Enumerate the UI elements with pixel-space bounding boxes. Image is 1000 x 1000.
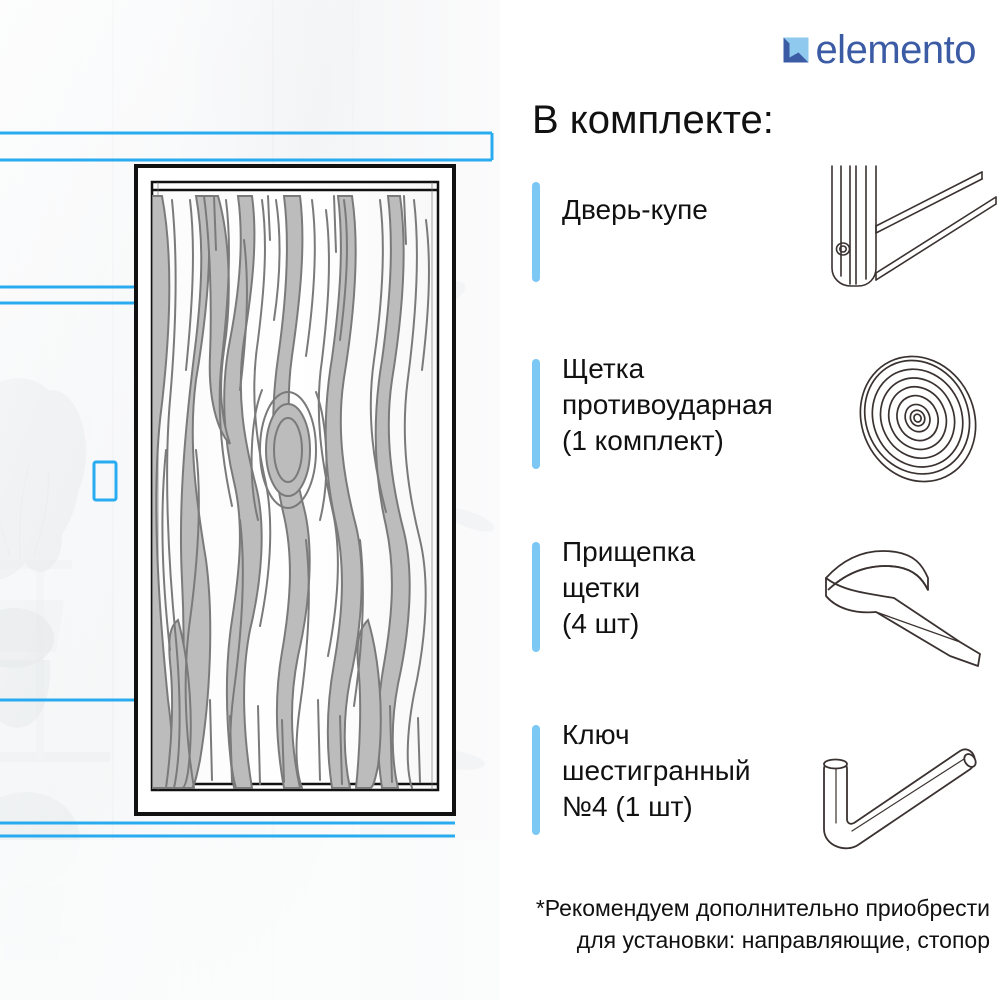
accent-bar	[532, 542, 540, 652]
brand-name: elemento	[815, 30, 976, 70]
kit-item-label: Дверь-купе	[562, 192, 812, 228]
list-item: Щетка противоударная (1 комплект)	[500, 351, 1000, 534]
footnote-text: *Рекомендуем дополнительно приобрести дл…	[430, 892, 990, 956]
kit-item-label: Ключ шестигранный №4 (1 шт)	[562, 717, 812, 825]
door-visual-panel	[0, 0, 500, 1000]
kit-list: Дверь-купе	[500, 168, 1000, 900]
brand-logo[interactable]: elemento	[783, 30, 976, 70]
triangle-play-mark-icon	[783, 37, 809, 63]
accent-bar	[532, 359, 540, 469]
kit-item-label: Щетка противоударная (1 комплект)	[562, 351, 812, 459]
list-item: Дверь-купе	[500, 168, 1000, 351]
brush-seal-coil-icon	[810, 347, 1000, 492]
hex-key-icon	[806, 723, 996, 868]
sliding-door-drawing	[0, 0, 500, 1000]
sliding-door-frame-icon	[810, 160, 1000, 305]
page-title: В комплекте:	[532, 98, 774, 143]
kit-item-label: Прищепка щетки (4 шт)	[562, 534, 812, 642]
kit-content-panel: elemento В комплекте: Дверь-купе	[500, 0, 1000, 1000]
list-item: Ключ шестигранный №4 (1 шт)	[500, 717, 1000, 900]
product-infographic: elemento В комплекте: Дверь-купе	[0, 0, 1000, 1000]
list-item: Прищепка щетки (4 шт)	[500, 534, 1000, 717]
accent-bar	[532, 182, 540, 282]
brush-clip-icon	[810, 534, 1000, 679]
accent-bar	[532, 725, 540, 835]
